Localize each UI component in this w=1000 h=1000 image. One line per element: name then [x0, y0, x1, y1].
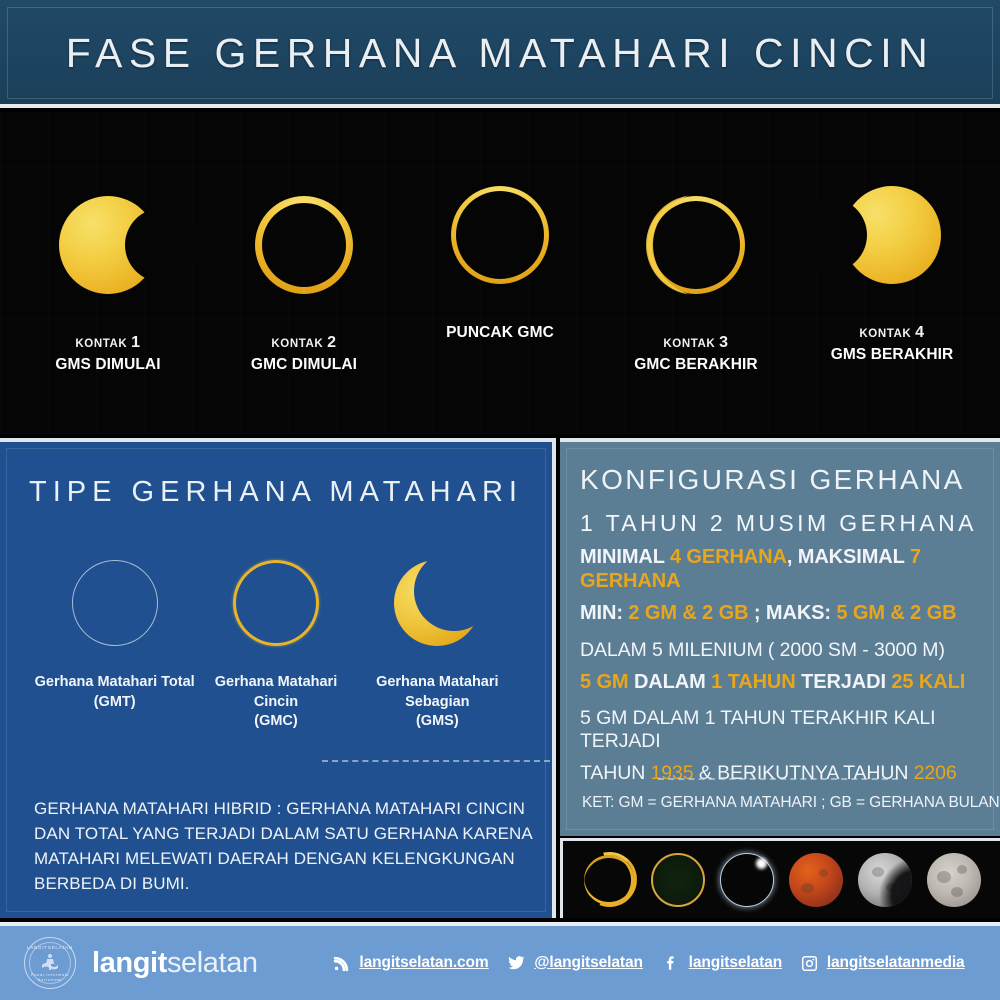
phase-kontak-number: 1 [131, 334, 141, 351]
tipe-item-gmc: Gerhana Matahari Cincin (GMC) [195, 555, 356, 732]
phase-kontak-word: KONTAK [75, 338, 127, 350]
header-inner-frame: FASE GERHANA MATAHARI CINCIN [7, 7, 993, 99]
phase-label: KONTAK 3 GMC BERAKHIR [601, 334, 791, 374]
phase-item-kontak-3: KONTAK 3 GMC BERAKHIR [601, 112, 791, 374]
text-part: TERJADI [796, 671, 892, 693]
langitselatan-seal-logo: LANGITSELATAN Pusat Informasi Astronomi [24, 937, 76, 989]
tipe-name-text: Gerhana Matahari Total [35, 674, 195, 690]
phase-sub-label: GMC BERAKHIR [601, 356, 791, 374]
konfig-line-minmaks: MIN: 2 GM & 2 GB ; MAKS: 5 GM & 2 GB [580, 602, 984, 626]
thumb-full-moon [927, 853, 981, 907]
gold-value: 2206 [914, 762, 957, 784]
annular-ring-icon [647, 196, 745, 294]
konfig-panel-title: KONFIGURASI GERHANA [580, 464, 984, 496]
gold-value: 1 TAHUN [711, 671, 796, 693]
social-links: langitselatan.com @langitselatan langits… [324, 954, 1000, 972]
konfig-line-minimal: MINIMAL 4 GERHANA, MAKSIMAL 7 GERHANA [580, 546, 984, 593]
phase-kontak-number: 4 [915, 324, 925, 341]
phase-art-annular-start [209, 170, 399, 320]
tipe-abbr-text: (GMS) [416, 713, 459, 729]
tipe-panel-title: TIPE GERHANA MATAHARI [28, 476, 524, 509]
tipe-name-text: Gerhana Matahari Sebagian [376, 674, 499, 710]
phase-item-kontak-2: KONTAK 2 GMC DIMULAI [209, 112, 399, 374]
konfig-subtitle: 1 TAHUN 2 MUSIM GERHANA [580, 510, 984, 537]
phase-kontak-line: KONTAK 3 [601, 334, 791, 352]
brand-bold-text: langit [92, 947, 167, 979]
phase-label: KONTAK 4 GMS BERAKHIR [797, 324, 987, 364]
social-link-website[interactable]: langitselatan.com [333, 954, 488, 972]
annular-ring-icon [451, 186, 549, 284]
crater [872, 867, 884, 877]
phase-kontak-line: KONTAK 4 [797, 324, 987, 342]
sun-disc-icon [843, 186, 941, 284]
rss-icon [333, 955, 350, 972]
right-panel-dashed-divider [658, 778, 898, 780]
annular-ring-icon [255, 196, 353, 294]
crescent-cutout [414, 551, 494, 631]
phase-art-annular-peak [405, 160, 595, 310]
twitter-icon [507, 954, 525, 972]
gold-value: 5 GM & 2 GB [836, 602, 956, 624]
annular-eclipse-ring-icon [233, 560, 319, 646]
phase-label: KONTAK 2 GMC DIMULAI [209, 334, 399, 374]
phase-item-puncak: PUNCAK GMC [405, 112, 595, 342]
text-part: DALAM [629, 671, 712, 693]
tipe-name: Gerhana Matahari Cincin (GMC) [195, 673, 356, 732]
crater [937, 871, 951, 883]
phase-kontak-number: 2 [327, 334, 337, 351]
eclipse-phases-section: KONTAK 1 GMS DIMULAI KONTAK 2 GMC DIMULA… [0, 112, 1000, 434]
gold-value: 1935 [651, 762, 694, 784]
social-link-facebook[interactable]: langitselatan [662, 954, 782, 972]
tipe-abbr-text: (GMT) [94, 694, 136, 710]
tipe-gerhana-panel: TIPE GERHANA MATAHARI Gerhana Matahari T… [0, 438, 556, 918]
text-part: MIN: [580, 602, 628, 624]
text-part: MINIMAL [580, 546, 670, 568]
seal-bottom-text: Pusat Informasi Astronomi [25, 972, 75, 982]
header-bar: FASE GERHANA MATAHARI CINCIN [0, 0, 1000, 108]
social-link-instagram[interactable]: langitselatanmedia [801, 954, 965, 972]
page-title: FASE GERHANA MATAHARI CINCIN [66, 30, 934, 77]
tipe-art-partial [357, 555, 518, 651]
tipe-name-text: Gerhana Matahari Cincin [215, 674, 338, 710]
text-part: TAHUN [580, 762, 651, 784]
thumb-annular-eclipse [651, 853, 705, 907]
phase-art-partial-sun-start [13, 170, 203, 320]
social-label: langitselatanmedia [827, 954, 965, 972]
phase-kontak-word: KONTAK [271, 338, 323, 350]
social-label: langitselatan.com [359, 954, 488, 972]
thumb-total-lunar-eclipse [789, 853, 843, 907]
gold-value: 5 GM [580, 671, 629, 693]
phase-sub-label: PUNCAK GMC [405, 324, 595, 342]
sun-disc-icon [59, 196, 157, 294]
gold-value: 25 KALI [891, 671, 965, 693]
thumb-annular-crescent [582, 853, 636, 907]
hibrid-description: GERHANA MATAHARI HIBRID : GERHANA MATAHA… [34, 796, 532, 897]
seal-top-text: LANGITSELATAN [25, 945, 75, 950]
text-part: & BERIKUTNYA TAHUN [694, 762, 914, 784]
brand-light-text: selatan [167, 947, 258, 979]
phase-kontak-line: KONTAK 2 [209, 334, 399, 352]
phase-label: KONTAK 1 GMS DIMULAI [13, 334, 203, 374]
phase-kontak-word: KONTAK [859, 328, 911, 340]
konfig-legend-note: KET: GM = GERHANA MATAHARI ; GB = GERHAN… [582, 794, 1000, 812]
phase-art-annular-end [601, 170, 791, 320]
crescent-sun-icon [394, 560, 480, 646]
phase-kontak-number: 3 [719, 334, 729, 351]
phase-kontak-word: KONTAK [663, 338, 715, 350]
total-eclipse-circle-icon [72, 560, 158, 646]
social-label: @langitselatan [534, 954, 642, 972]
tipe-art-total [34, 555, 195, 651]
tipe-art-annular [195, 555, 356, 651]
konfigurasi-gerhana-panel: KONFIGURASI GERHANA 1 TAHUN 2 MUSIM GERH… [560, 438, 1000, 836]
social-link-twitter[interactable]: @langitselatan [507, 954, 642, 972]
tipe-name: Gerhana Matahari Total (GMT) [34, 673, 195, 712]
text-part: ; MAKS: [748, 602, 836, 624]
phase-art-partial-sun-end [797, 160, 987, 310]
crater [951, 887, 963, 897]
konfig-line-5gm: 5 GM DALAM 1 TAHUN TERJADI 25 KALI [580, 671, 984, 695]
tipe-abbr-text: (GMC) [254, 713, 298, 729]
crater [957, 865, 967, 874]
konfig-line-terakhir-2: TAHUN 1935 & BERIKUTNYA TAHUN 2206 [580, 762, 984, 785]
gold-value: 4 GERHANA [670, 546, 787, 568]
footer-bar: LANGITSELATAN Pusat Informasi Astronomi … [0, 922, 1000, 1000]
konfig-line-terakhir-1: 5 GM DALAM 1 TAHUN TERAKHIR KALI TERJADI [580, 707, 984, 753]
phase-sub-label: GMS DIMULAI [13, 356, 203, 374]
crater [801, 883, 814, 893]
phase-label: PUNCAK GMC [405, 324, 595, 342]
eclipse-photo-strip [560, 838, 1000, 918]
crater [819, 869, 828, 877]
text-part: , MAKSIMAL [787, 546, 910, 568]
facebook-icon [662, 954, 680, 972]
crater [886, 883, 896, 892]
phase-item-kontak-1: KONTAK 1 GMS DIMULAI [13, 112, 203, 374]
instagram-icon [801, 955, 818, 972]
tipe-list: Gerhana Matahari Total (GMT) Gerhana Mat… [28, 555, 524, 732]
tipe-item-gmt: Gerhana Matahari Total (GMT) [34, 555, 195, 712]
moon-bite-icon [125, 208, 199, 282]
thumb-total-solar-eclipse [720, 853, 774, 907]
konfig-line-milenium: DALAM 5 MILENIUM ( 2000 SM - 3000 M) [580, 639, 984, 662]
phase-sub-label: GMC DIMULAI [209, 356, 399, 374]
gold-value: 2 GM & 2 GB [628, 602, 748, 624]
social-label: langitselatan [689, 954, 782, 972]
phase-sub-label: GMS BERAKHIR [797, 346, 987, 364]
phase-item-kontak-4: KONTAK 4 GMS BERAKHIR [797, 112, 987, 364]
left-panel-dashed-divider [322, 760, 550, 762]
brand-wordmark: langitselatan [92, 947, 258, 980]
moon-bite-icon [793, 198, 867, 272]
tipe-name: Gerhana Matahari Sebagian (GMS) [357, 673, 518, 732]
tipe-item-gms: Gerhana Matahari Sebagian (GMS) [357, 555, 518, 732]
phase-kontak-line: KONTAK 1 [13, 334, 203, 352]
thumb-partial-lunar-eclipse [858, 853, 912, 907]
brand-block[interactable]: LANGITSELATAN Pusat Informasi Astronomi … [24, 937, 324, 989]
